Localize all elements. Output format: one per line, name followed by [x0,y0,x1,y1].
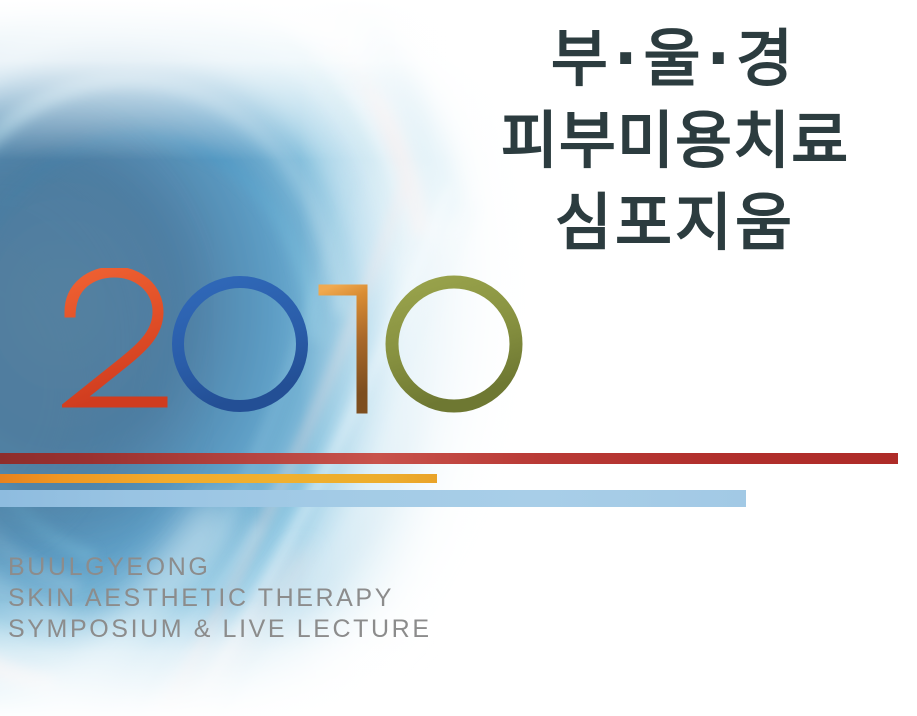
korean-line-event-type: 심포지움 [455,192,895,254]
korean-headline: 부·울·경 피부미용치료 심포지움 [455,28,895,254]
korean-line-topic: 피부미용치료 [455,110,895,172]
year-2010 [62,268,562,428]
english-line-3: SYMPOSIUM & LIVE LECTURE [8,614,432,645]
english-line-2: SKIN AESTHETIC THERAPY [8,583,432,614]
korean-line-region: 부·울·경 [455,28,895,90]
english-subtitle: BUULGYEONG SKIN AESTHETIC THERAPY SYMPOS… [8,552,432,645]
digit-1 [324,290,362,408]
poster-root: 부·울·경 피부미용치료 심포지움 BUULGYEONG SKIN AESTHE… [0,0,917,716]
english-line-1: BUULGYEONG [8,552,432,583]
year-2010-graphic [62,268,562,433]
accent-bar-blue [0,490,746,507]
digit-2 [70,272,162,402]
digit-0-blue [178,282,302,406]
digit-0-olive [392,282,516,406]
accent-bar-orange [0,474,437,483]
accent-bar-red [0,453,898,464]
